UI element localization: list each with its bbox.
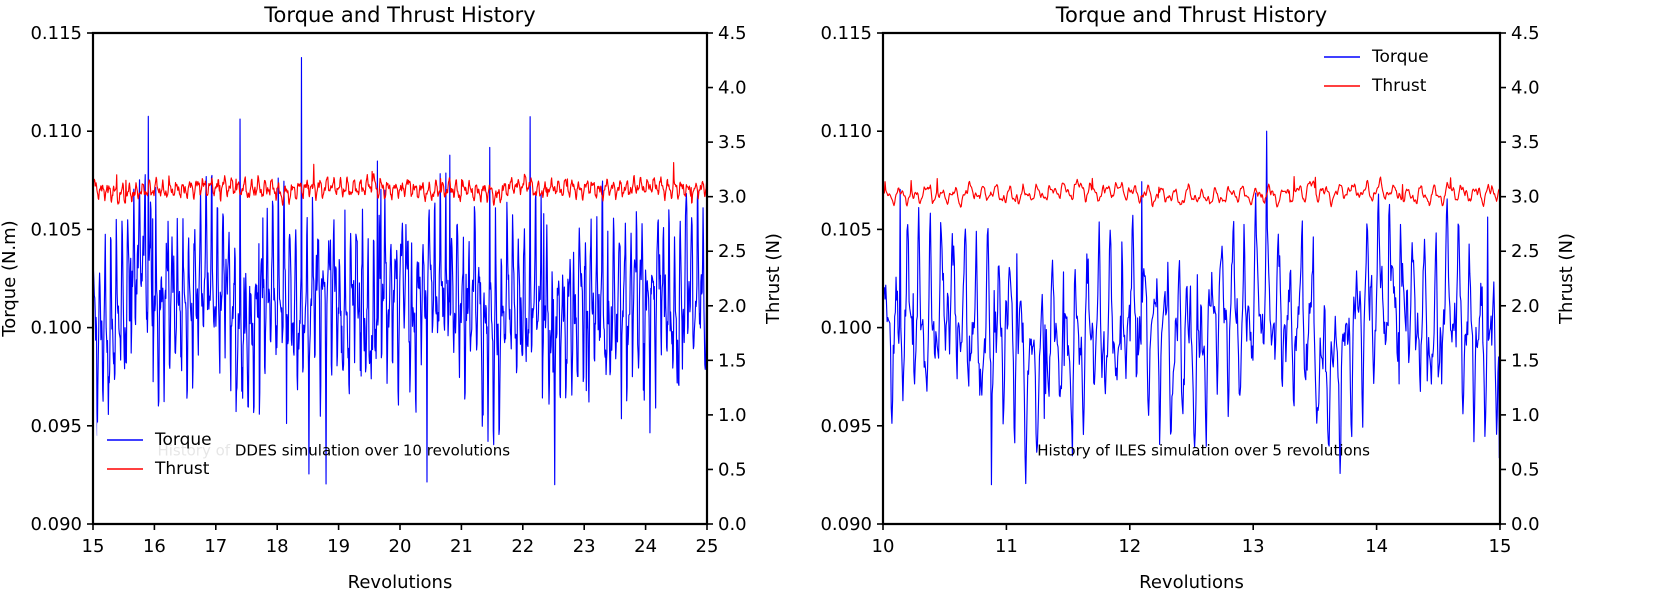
- y2-tick-label: 3.5: [718, 132, 747, 153]
- series-line-thrust: [883, 177, 1500, 207]
- y2-tick-label: 2.5: [1511, 241, 1540, 262]
- legend-label-torque: Torque: [154, 430, 212, 450]
- y2-tick-label: 1.0: [718, 405, 747, 426]
- plot-area: [93, 58, 707, 485]
- y2-tick-label: 3.5: [1511, 132, 1540, 153]
- y2-tick-label: 3.0: [1511, 187, 1540, 208]
- legend-label-thrust: Thrust: [154, 459, 210, 479]
- chart-panel-ddes: 15161718192021222324250.0900.0950.1000.1…: [0, 0, 820, 599]
- chart-title: Torque and Thrust History: [1055, 3, 1327, 27]
- y2-tick-label: 2.0: [1511, 296, 1540, 317]
- y-tick-label: 0.095: [820, 416, 872, 437]
- x-tick-label: 15: [82, 536, 105, 557]
- legend-label-thrust: Thrust: [1371, 76, 1427, 96]
- x-tick-label: 10: [872, 536, 895, 557]
- y-tick-label: 0.095: [30, 416, 82, 437]
- y2-tick-label: 2.0: [718, 296, 747, 317]
- y2-tick-label: 0.5: [718, 459, 747, 480]
- y2-tick-label: 4.0: [1511, 78, 1540, 99]
- x-tick-label: 13: [1242, 536, 1265, 557]
- x-tick-label: 18: [266, 536, 289, 557]
- y-tick-label: 0.105: [30, 219, 82, 240]
- y-tick-label: 0.090: [820, 514, 872, 535]
- y-tick-label: 0.110: [820, 121, 872, 142]
- y-tick-label: 0.115: [820, 23, 872, 44]
- x-tick-label: 24: [634, 536, 657, 557]
- x-tick-label: 22: [511, 536, 534, 557]
- chart-title: Torque and Thrust History: [263, 3, 535, 27]
- x-axis-label: Revolutions: [1139, 572, 1244, 593]
- x-tick-label: 15: [1489, 536, 1512, 557]
- chart-annotation: History of ILES simulation over 5 revolu…: [1037, 441, 1370, 459]
- y2-tick-label: 1.5: [718, 350, 747, 371]
- y2-axis-label: Thrust (N): [763, 233, 784, 325]
- y-tick-label: 0.105: [820, 219, 872, 240]
- x-axis-label: Revolutions: [348, 572, 453, 593]
- ddes-plot-svg: 15161718192021222324250.0900.0950.1000.1…: [0, 0, 820, 599]
- y2-tick-label: 0.0: [1511, 514, 1540, 535]
- x-tick-label: 14: [1365, 536, 1388, 557]
- series-line-torque: [883, 131, 1500, 485]
- x-tick-label: 17: [204, 536, 227, 557]
- x-tick-label: 16: [143, 536, 166, 557]
- x-tick-label: 19: [327, 536, 350, 557]
- y2-tick-label: 4.0: [718, 78, 747, 99]
- series-line-thrust: [93, 163, 707, 206]
- y-tick-label: 0.100: [820, 318, 872, 339]
- legend[interactable]: TorqueThrust: [1314, 39, 1450, 107]
- x-tick-label: 21: [450, 536, 473, 557]
- y-tick-label: 0.100: [30, 318, 82, 339]
- y2-tick-label: 4.5: [718, 23, 747, 44]
- x-tick-label: 20: [389, 536, 412, 557]
- y-tick-label: 0.090: [30, 514, 82, 535]
- x-tick-label: 12: [1118, 536, 1141, 557]
- y-axis-label: Torque (N.m): [0, 220, 20, 337]
- y2-tick-label: 1.0: [1511, 405, 1540, 426]
- legend[interactable]: TorqueThrust: [97, 422, 233, 490]
- iles-plot-svg: 1011121314150.0900.0950.1000.1050.1100.1…: [820, 0, 1663, 599]
- y2-tick-label: 0.0: [718, 514, 747, 535]
- chart-panel-iles: 1011121314150.0900.0950.1000.1050.1100.1…: [820, 0, 1663, 599]
- y2-tick-label: 2.5: [718, 241, 747, 262]
- series-line-torque: [93, 58, 707, 485]
- x-tick-label: 11: [995, 536, 1018, 557]
- y2-axis-label: Thrust (N): [1556, 233, 1577, 325]
- x-tick-label: 23: [573, 536, 596, 557]
- y-tick-label: 0.110: [30, 121, 82, 142]
- y2-tick-label: 4.5: [1511, 23, 1540, 44]
- y2-tick-label: 3.0: [718, 187, 747, 208]
- y-tick-label: 0.115: [30, 23, 82, 44]
- y2-tick-label: 1.5: [1511, 350, 1540, 371]
- plot-area: [883, 131, 1500, 485]
- x-tick-label: 25: [696, 536, 719, 557]
- legend-label-torque: Torque: [1371, 47, 1429, 67]
- figure-canvas: 15161718192021222324250.0900.0950.1000.1…: [0, 0, 1663, 599]
- y2-tick-label: 0.5: [1511, 459, 1540, 480]
